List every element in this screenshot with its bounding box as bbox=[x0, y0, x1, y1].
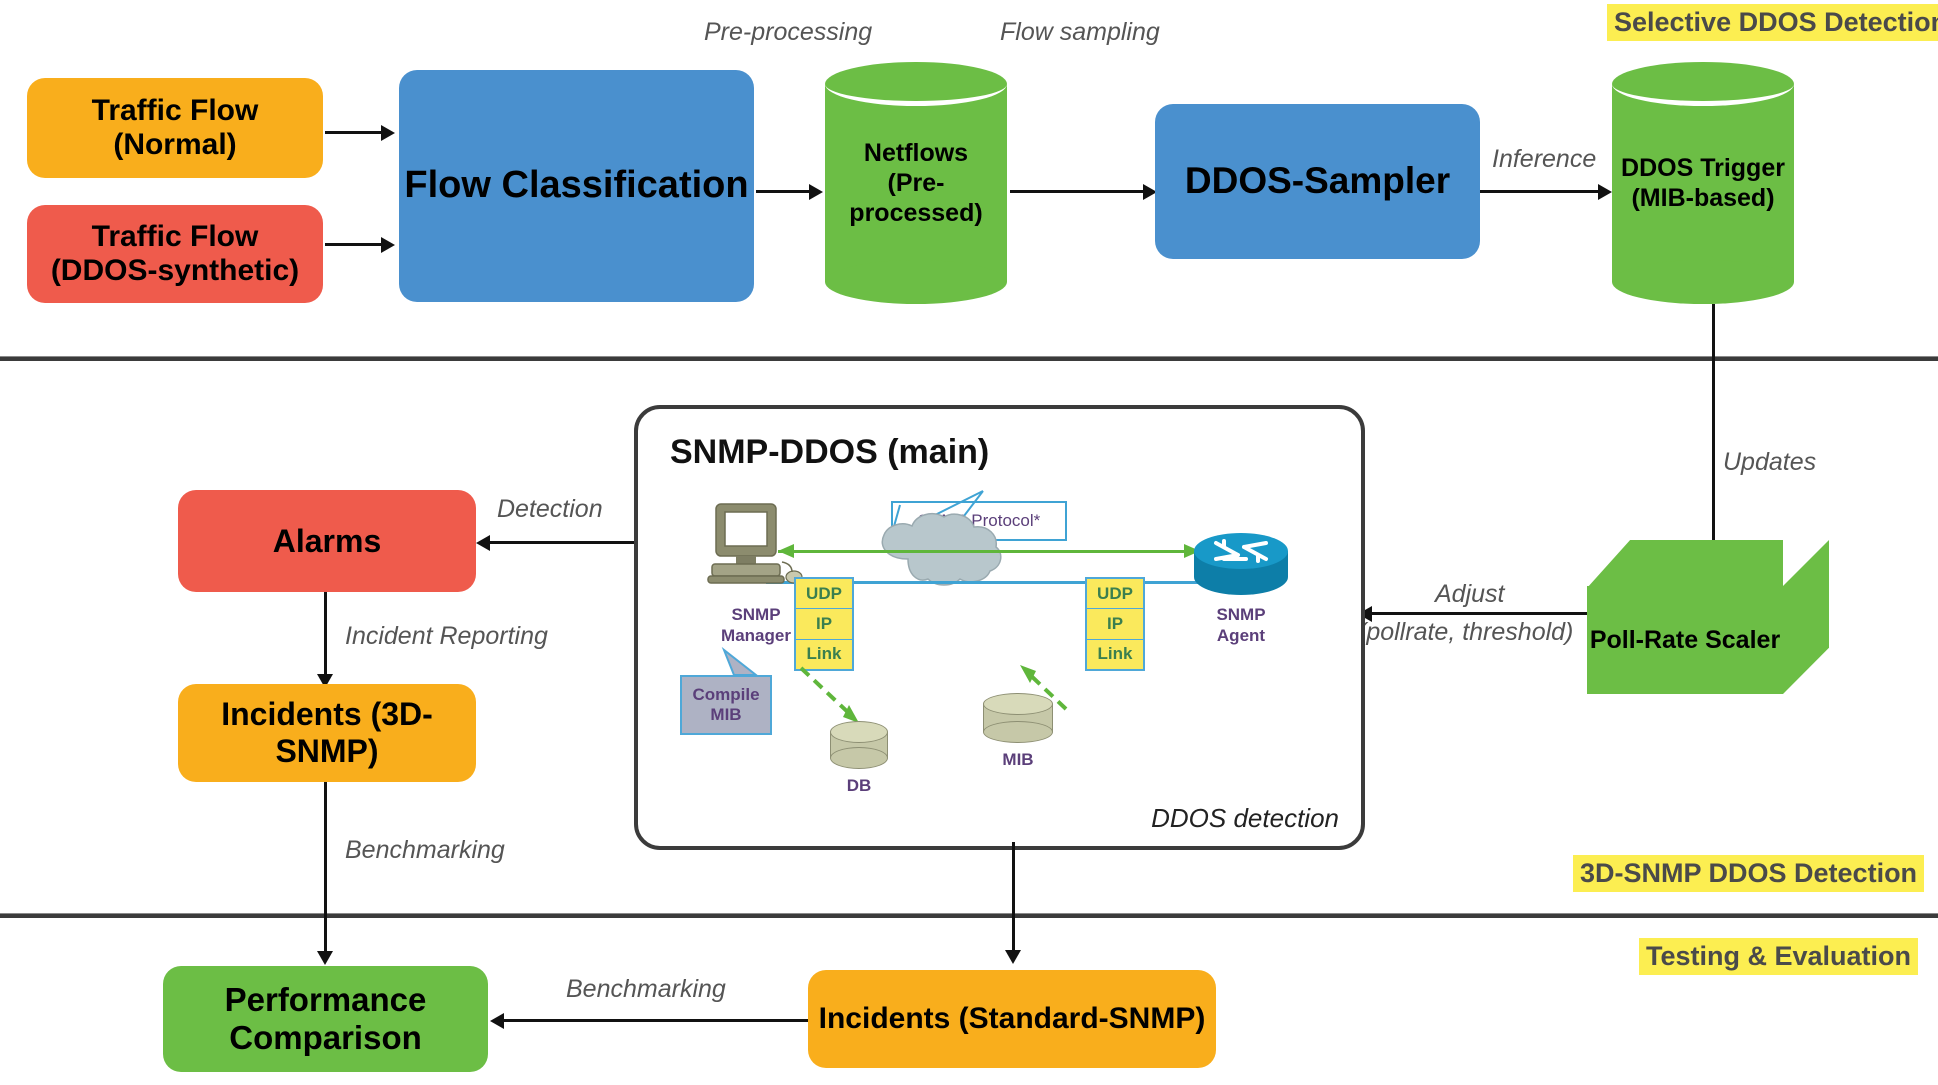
arrow-detection-head bbox=[476, 535, 490, 551]
ddos-detection-caption: DDOS detection bbox=[1151, 803, 1339, 834]
snmp-agent-line2: Agent bbox=[1198, 625, 1284, 646]
arrow-incidents3d-to-performance-line bbox=[324, 782, 327, 957]
snmp-agent-line1: SNMP bbox=[1198, 604, 1284, 625]
arrow-classification-to-netflows-head bbox=[809, 184, 823, 200]
alarms-label: Alarms bbox=[273, 523, 382, 560]
snmp-green-link bbox=[778, 550, 1198, 553]
diagram-canvas: Selective DDOS Detection 3D-SNMP DDOS De… bbox=[0, 0, 1938, 1085]
stack-right-ip: IP bbox=[1087, 609, 1143, 639]
stack-right-link: Link bbox=[1087, 640, 1143, 669]
poll-rate-scaler-label: Poll-Rate Scaler bbox=[1587, 586, 1783, 694]
traffic-normal-line2: (Normal) bbox=[113, 128, 236, 163]
arrow-benchmarking-bottom-line bbox=[504, 1019, 808, 1022]
snmp-ddos-main-title: SNMP-DDOS (main) bbox=[670, 433, 989, 472]
traffic-normal-line1: Traffic Flow bbox=[92, 94, 259, 129]
node-ddos-sampler[interactable]: DDOS-Sampler bbox=[1155, 104, 1480, 259]
node-traffic-flow-normal[interactable]: Traffic Flow (Normal) bbox=[27, 78, 323, 178]
stack-left-udp: UDP bbox=[796, 579, 852, 609]
node-alarms[interactable]: Alarms bbox=[178, 490, 476, 592]
netflows-line2: (Pre-processed) bbox=[825, 168, 1007, 228]
edge-label-inference: Inference bbox=[1492, 145, 1596, 174]
compile-mib-line1: Compile bbox=[692, 685, 759, 705]
arrow-main-to-incidents-std-line bbox=[1012, 842, 1015, 956]
arrow-alarms-to-incidents-line bbox=[324, 592, 327, 680]
section-label-testing-evaluation: Testing & Evaluation bbox=[1639, 938, 1918, 975]
section-label-selective-ddos: Selective DDOS Detection bbox=[1607, 4, 1938, 41]
arrow-normal-to-classification-line bbox=[325, 131, 383, 134]
ddos-sampler-label: DDOS-Sampler bbox=[1185, 160, 1450, 203]
stack-left-ip: IP bbox=[796, 609, 852, 639]
stack-right-udp: UDP bbox=[1087, 579, 1143, 609]
compile-mib-line2: MIB bbox=[710, 705, 741, 725]
traffic-ddos-line2: (DDOS-synthetic) bbox=[51, 254, 299, 289]
trigger-cylinder-bottom bbox=[1612, 260, 1794, 304]
traffic-ddos-line1: Traffic Flow bbox=[92, 220, 259, 255]
db-cylinder-icon bbox=[830, 721, 888, 769]
snmp-manager-line1: SNMP bbox=[716, 604, 796, 625]
arrow-sampler-to-trigger-head bbox=[1598, 184, 1612, 200]
node-performance-comparison[interactable]: Performance Comparison bbox=[163, 966, 488, 1072]
edge-label-pre-processing: Pre-processing bbox=[704, 18, 872, 47]
arrow-classification-to-netflows-line bbox=[756, 190, 811, 193]
node-poll-rate-scaler[interactable]: Poll-Rate Scaler bbox=[1587, 540, 1833, 700]
section-label-3d-snmp: 3D-SNMP DDOS Detection bbox=[1573, 855, 1924, 892]
incidents-standard-label: Incidents (Standard-SNMP) bbox=[819, 1002, 1206, 1037]
node-traffic-flow-ddos[interactable]: Traffic Flow (DDOS-synthetic) bbox=[27, 205, 323, 303]
arrow-ddos-to-classification-head bbox=[381, 237, 395, 253]
node-flow-classification[interactable]: Flow Classification bbox=[399, 70, 754, 302]
performance-line1: Performance bbox=[225, 981, 427, 1019]
incidents-3d-label: Incidents (3D-SNMP) bbox=[178, 696, 476, 770]
mib-cylinder-bottom bbox=[983, 721, 1053, 743]
trigger-cylinder-top bbox=[1612, 62, 1794, 106]
edge-label-flow-sampling: Flow sampling bbox=[1000, 18, 1160, 47]
stack-left-link: Link bbox=[796, 640, 852, 669]
arrow-sampler-to-trigger-line bbox=[1480, 190, 1600, 193]
snmp-manager-label: SNMP Manager bbox=[716, 604, 796, 647]
mib-cylinder-top bbox=[983, 693, 1053, 715]
edge-label-detection: Detection bbox=[497, 495, 603, 524]
ddos-trigger-line2: (MIB-based) bbox=[1612, 183, 1794, 213]
arrow-netflows-to-sampler-line bbox=[1010, 190, 1145, 193]
arrow-trigger-to-scaler-line bbox=[1712, 304, 1715, 548]
arrow-benchmarking-bottom-head bbox=[490, 1013, 504, 1029]
db-cylinder-top bbox=[830, 721, 888, 743]
node-netflows-cylinder[interactable]: Netflows (Pre-processed) bbox=[825, 62, 1007, 304]
netflows-label: Netflows (Pre-processed) bbox=[825, 138, 1007, 228]
db-label: DB bbox=[830, 775, 888, 796]
arrow-ddos-to-classification-line bbox=[325, 243, 383, 246]
arrow-main-to-incidents-std-head bbox=[1005, 950, 1021, 964]
edge-label-adjust-line1: Adjust bbox=[1435, 580, 1504, 609]
node-incidents-standard-snmp[interactable]: Incidents (Standard-SNMP) bbox=[808, 970, 1216, 1068]
scaler-top-face bbox=[1587, 540, 1783, 588]
arrow-adjust-line bbox=[1372, 612, 1587, 615]
arrow-detection-line bbox=[490, 541, 634, 544]
mib-label: MIB bbox=[983, 749, 1053, 770]
edge-label-updates: Updates bbox=[1723, 448, 1816, 477]
edge-label-benchmarking-left: Benchmarking bbox=[345, 836, 505, 865]
netflows-line1: Netflows bbox=[825, 138, 1007, 168]
ddos-trigger-line1: DDOS Trigger bbox=[1612, 153, 1794, 183]
snmp-manager-line2: Manager bbox=[716, 625, 796, 646]
scaler-side-face bbox=[1783, 540, 1829, 694]
node-incidents-3d-snmp[interactable]: Incidents (3D-SNMP) bbox=[178, 684, 476, 782]
section-separator-top bbox=[0, 356, 1938, 361]
compile-mib-box[interactable]: Compile MIB bbox=[680, 675, 772, 735]
section-separator-bottom bbox=[0, 913, 1938, 918]
edge-label-benchmarking-bottom: Benchmarking bbox=[566, 975, 726, 1004]
snmp-protocol-box[interactable]: SNMP Protocol* bbox=[891, 501, 1067, 541]
node-snmp-ddos-main[interactable]: SNMP-DDOS (main) DDOS detection SNMP Pro… bbox=[634, 405, 1365, 850]
flow-classification-label: Flow Classification bbox=[404, 164, 748, 208]
edge-label-incident-reporting: Incident Reporting bbox=[345, 622, 548, 651]
protocol-stack-left: UDP IP Link bbox=[794, 577, 854, 671]
mib-cylinder-icon bbox=[983, 693, 1053, 743]
ddos-trigger-label: DDOS Trigger (MIB-based) bbox=[1612, 153, 1794, 213]
snmp-agent-label: SNMP Agent bbox=[1198, 604, 1284, 647]
edge-label-adjust-line2: (pollrate, threshold) bbox=[1358, 618, 1573, 647]
arrow-normal-to-classification-head bbox=[381, 125, 395, 141]
performance-line2: Comparison bbox=[229, 1019, 422, 1057]
arrow-incidents3d-to-performance-head bbox=[317, 951, 333, 965]
db-cylinder-bottom bbox=[830, 747, 888, 769]
netflows-cylinder-bottom bbox=[825, 260, 1007, 304]
node-ddos-trigger-cylinder[interactable]: DDOS Trigger (MIB-based) bbox=[1612, 62, 1794, 304]
protocol-stack-right: UDP IP Link bbox=[1085, 577, 1145, 671]
netflows-cylinder-top bbox=[825, 62, 1007, 106]
